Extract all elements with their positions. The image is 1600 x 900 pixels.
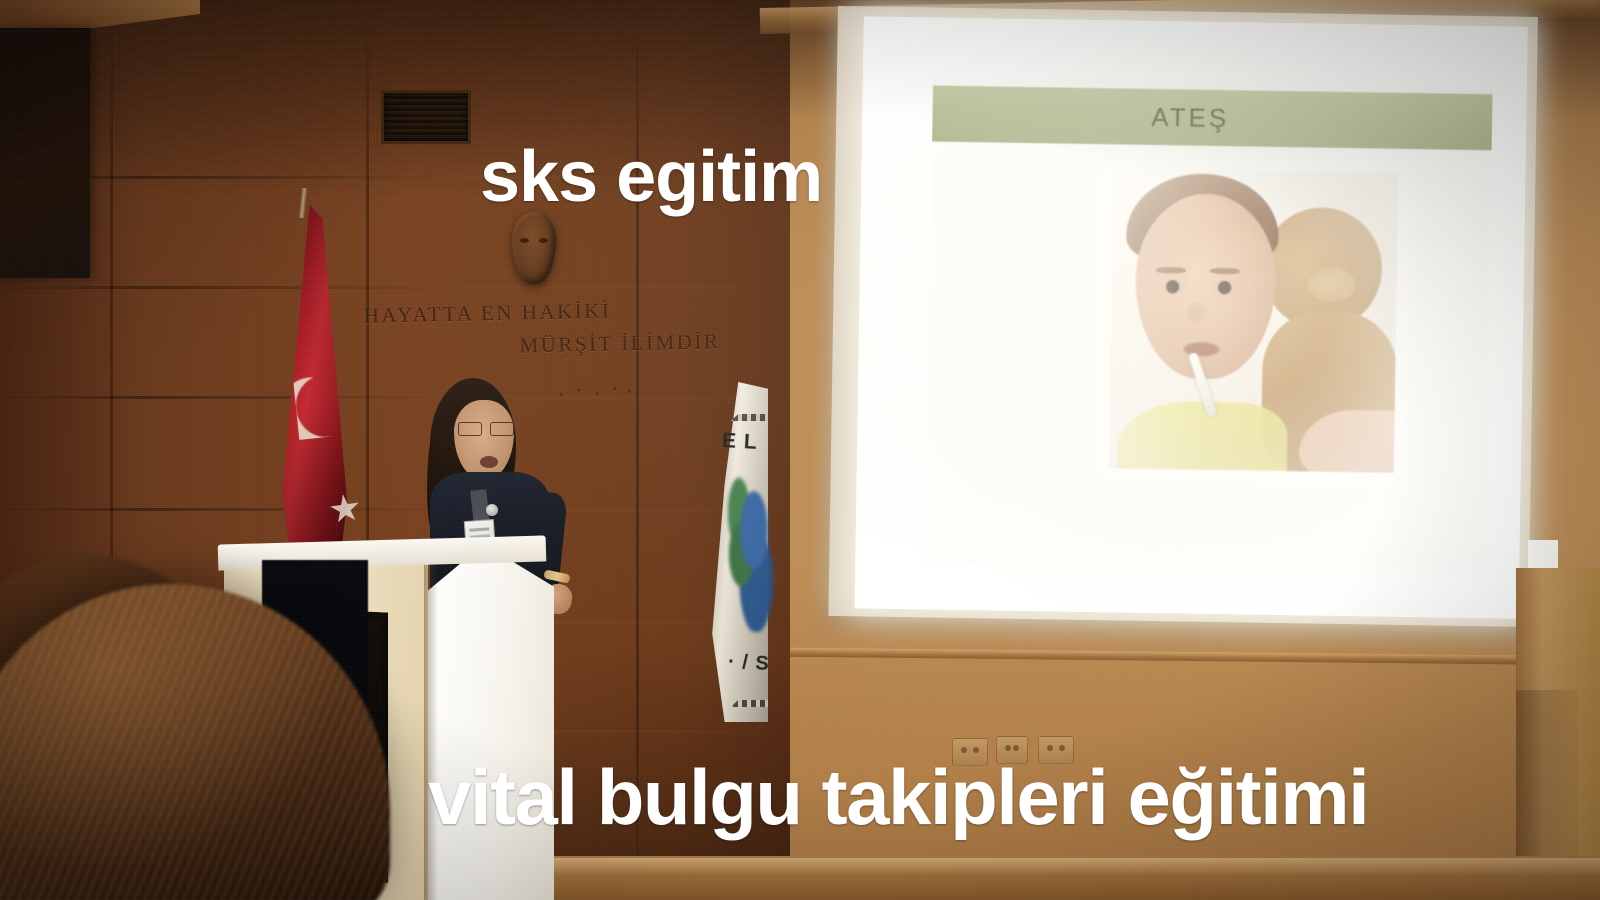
- wood-seam: [0, 508, 790, 511]
- presenter-mouth: [480, 456, 498, 468]
- wood-seam: [0, 286, 790, 289]
- photo-scene: HAYATTA EN HAKİKİ MÜRŞİT İLİMDİR E L · /…: [0, 0, 1600, 900]
- slide-title-bar: ATEŞ: [932, 85, 1493, 150]
- wood-seam: [0, 396, 790, 399]
- air-vent-icon: [381, 90, 471, 144]
- caption-top: sks egitim: [480, 136, 822, 218]
- podium-front-face: [424, 544, 554, 900]
- presentation-slide: ATEŞ: [925, 77, 1493, 572]
- podium-edge-shadow: [424, 546, 438, 900]
- institution-emblem-icon: [718, 462, 776, 632]
- photo-overexposure: [1109, 168, 1399, 472]
- glasses-icon: [458, 422, 514, 434]
- institution-flag-text-bottom: · / S: [727, 651, 770, 676]
- screen-projection-area: ATEŞ: [855, 16, 1528, 618]
- institution-flag-text-top: E L: [721, 429, 758, 455]
- wall-speaker-box: [0, 28, 90, 278]
- slide-photo-sick-child: [1109, 168, 1399, 472]
- caption-bottom: vital bulgu takipleri eğitimi: [428, 752, 1368, 843]
- projection-screen: ATEŞ: [828, 6, 1537, 627]
- wall-inscription: HAYATTA EN HAKİKİ MÜRŞİT İLİMDİR: [357, 292, 728, 365]
- lapel-pin-icon: [486, 504, 498, 516]
- slide-title: ATEŞ: [1151, 101, 1229, 133]
